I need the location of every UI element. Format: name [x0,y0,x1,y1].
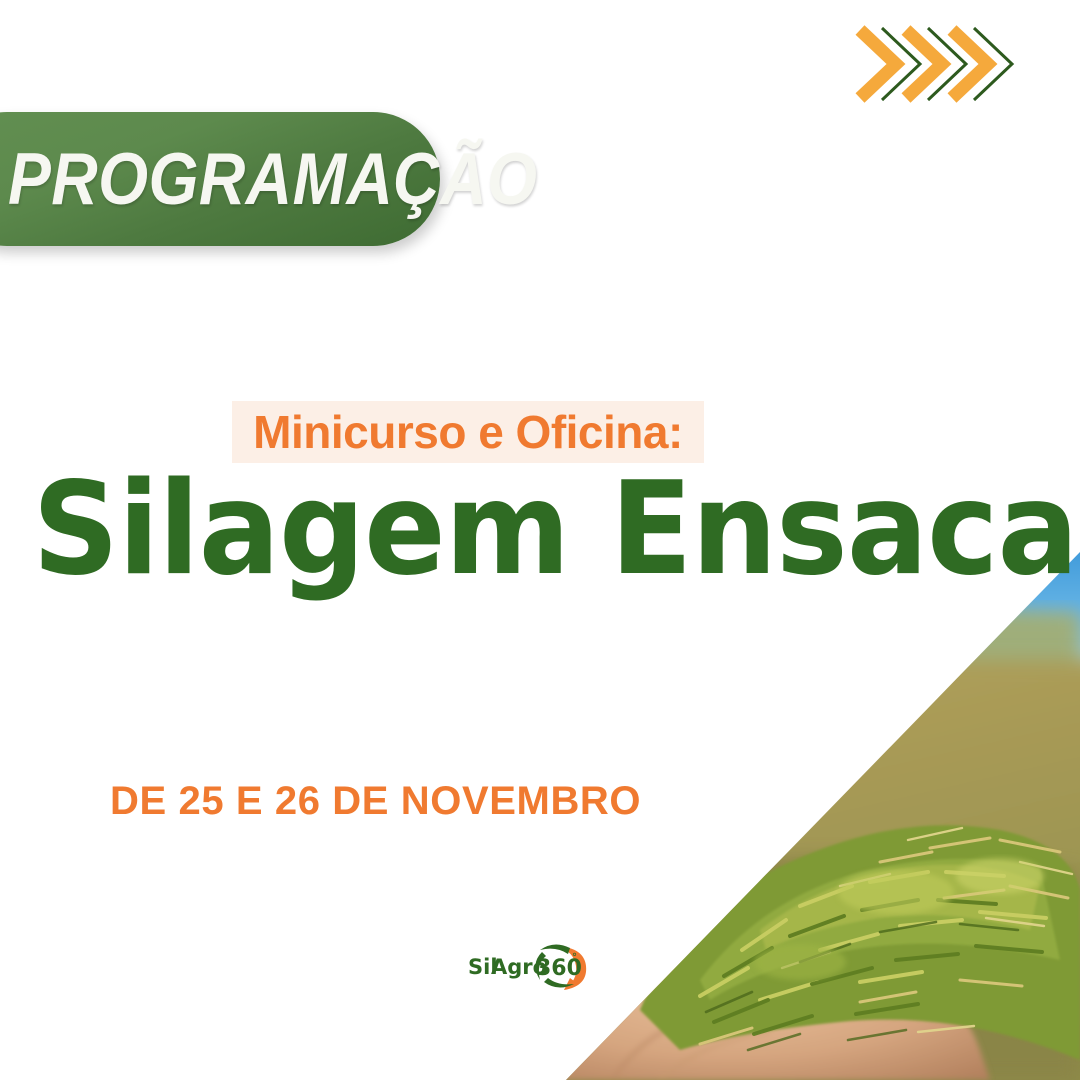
event-date: DE 25 E 26 DE NOVEMBRO [110,779,641,824]
subtitle-text: Minicurso e Oficina: [253,409,683,455]
poster-canvas: PROGRAMAÇÃO Minicurso e Oficina: Silagem… [0,0,1080,1080]
subtitle-highlight: Minicurso e Oficina: [232,401,704,463]
programacao-badge[interactable]: PROGRAMAÇÃO [0,112,440,246]
page-title: Silagem Ensacada [32,466,1047,594]
badge-label: PROGRAMAÇÃO [8,138,537,221]
silagro360-logo: Sil Agro 360 ° [466,938,596,994]
chevron-pattern [852,18,1032,110]
svg-text:°: ° [572,952,577,963]
